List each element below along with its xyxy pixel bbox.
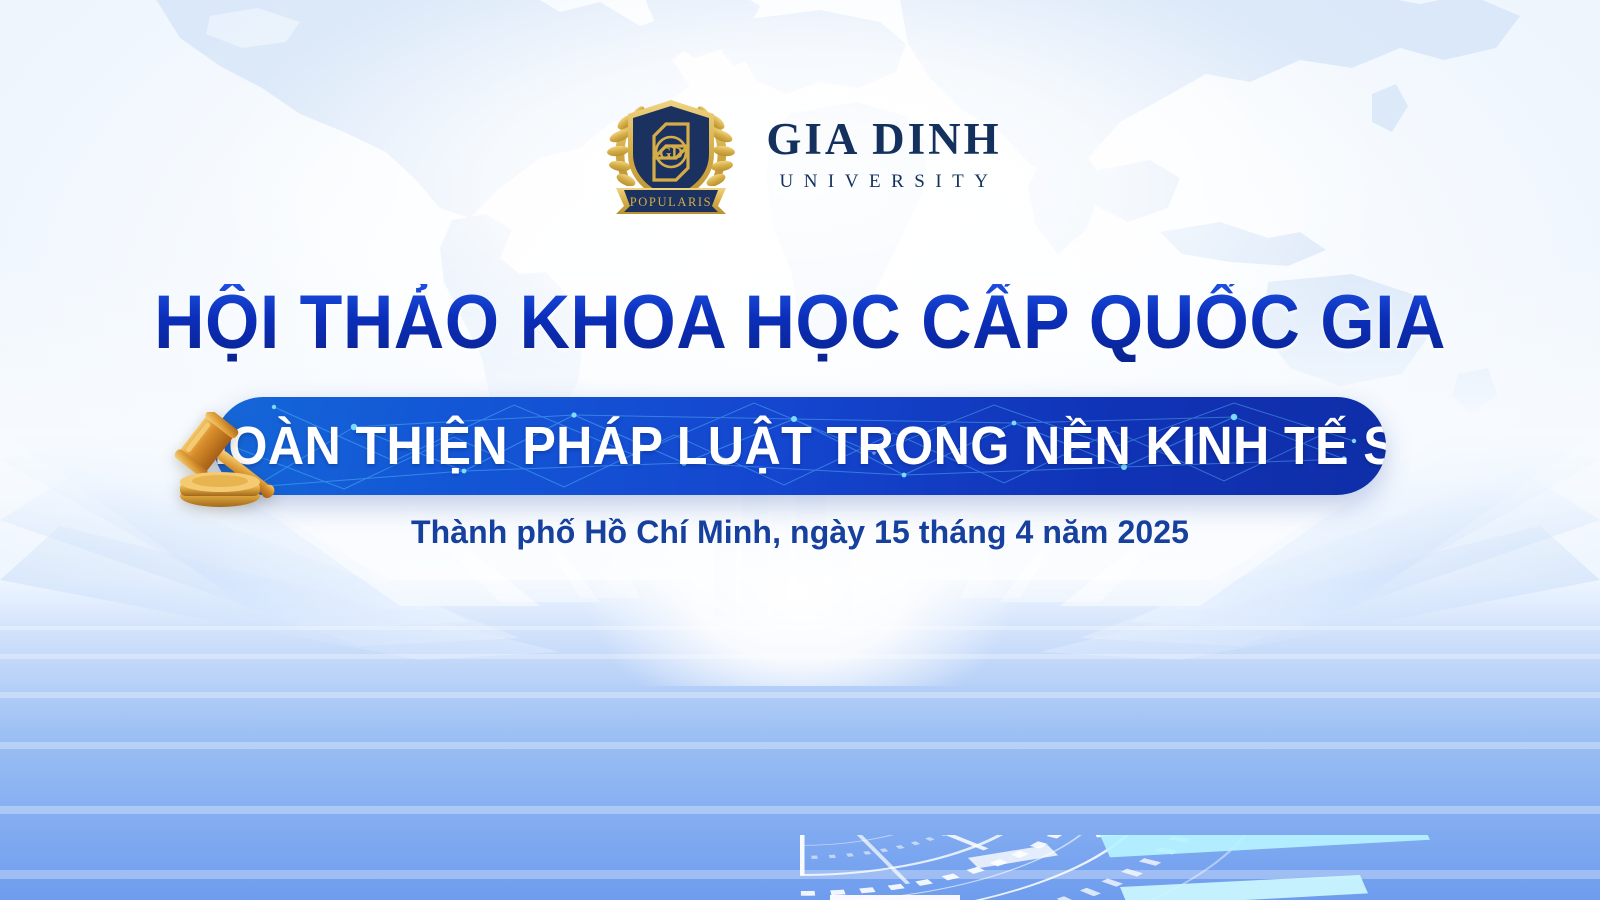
- university-name: GIA DINH: [766, 117, 1001, 162]
- crest-monogram: GD: [659, 145, 683, 162]
- page-title: HỘI THẢO KHOA HỌC CẤP QUỐC GIA: [64, 284, 1536, 362]
- event-dateline: Thành phố Hồ Chí Minh, ngày 15 tháng 4 n…: [0, 514, 1600, 551]
- banner-title: HOÀN THIỆN PHÁP LUẬT TRONG NỀN KINH TẾ S…: [214, 419, 1386, 473]
- crest-motto: POPULARIS: [630, 195, 712, 209]
- university-logo: GD POPULARIS GIA DINH UNIVERSITY: [0, 88, 1600, 216]
- theme-banner: HOÀN THIỆN PHÁP LUẬT TRONG NỀN KINH TẾ S…: [214, 397, 1386, 495]
- university-crest-icon: GD POPULARIS: [598, 88, 744, 216]
- university-subtitle: UNIVERSITY: [769, 171, 998, 193]
- conference-poster: GD POPULARIS GIA DINH UNIVERSITY HỘI THẢ…: [0, 0, 1600, 900]
- world-map-background: [0, 0, 1600, 452]
- university-wordmark: GIA DINH UNIVERSITY: [766, 117, 1001, 193]
- gavel-icon: [166, 412, 284, 508]
